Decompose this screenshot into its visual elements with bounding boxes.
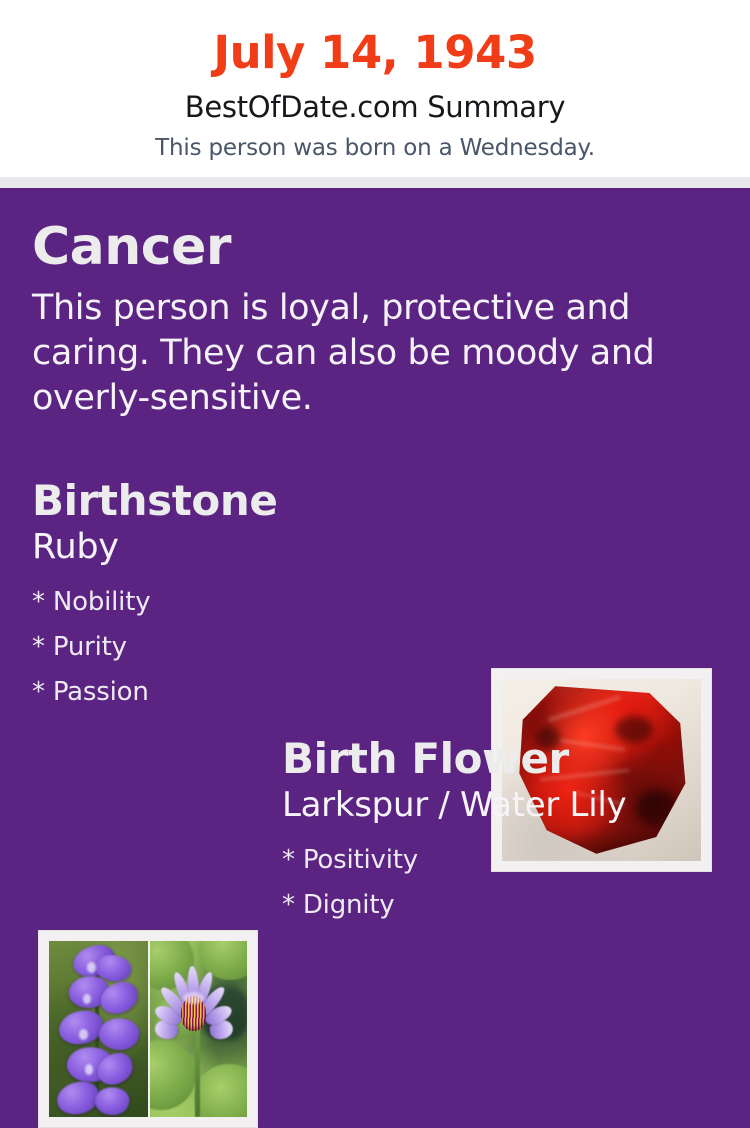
header-separator — [0, 177, 750, 188]
water-lily-photo — [148, 941, 247, 1117]
birthstone-name: Ruby — [32, 530, 119, 565]
list-item: * Dignity — [282, 883, 418, 928]
list-item: * Positivity — [282, 838, 418, 883]
photo-divider — [148, 941, 150, 1117]
page-header: July 14, 1943 BestOfDate.com Summary Thi… — [0, 0, 750, 177]
flower-photo-split — [49, 941, 247, 1117]
larkspur-and-water-lily-photo — [49, 941, 247, 1117]
water-lily-stem — [195, 1025, 200, 1117]
zodiac-description: This person is loyal, protective and car… — [32, 286, 657, 421]
page-title: July 14, 1943 — [0, 0, 750, 75]
birthstone-trait-list: * Nobility * Purity * Passion — [32, 580, 150, 715]
zodiac-sign-heading: Cancer — [32, 221, 231, 273]
birth-flower-trait-list: * Positivity * Dignity — [282, 838, 418, 928]
ruby-facet — [548, 695, 621, 723]
summary-card: July 14, 1943 BestOfDate.com Summary Thi… — [0, 0, 750, 1000]
larkspur-blossom-center — [83, 994, 91, 1005]
ruby-facet — [560, 739, 625, 752]
larkspur-blossom-center — [85, 1064, 93, 1075]
birth-flower-name: Larkspur / Water Lily — [282, 788, 626, 822]
larkspur-photo — [49, 941, 148, 1117]
birth-flower-image-frame — [38, 930, 258, 1128]
larkspur-blossom-center — [87, 962, 96, 973]
larkspur-blossom-center — [79, 1029, 88, 1040]
birth-flower-heading: Birth Flower — [282, 738, 569, 780]
list-item: * Passion — [32, 670, 150, 715]
content-body: Cancer This person is loyal, protective … — [0, 188, 750, 1000]
site-subtitle: BestOfDate.com Summary — [0, 75, 750, 122]
list-item: * Nobility — [32, 580, 150, 625]
list-item: * Purity — [32, 625, 150, 670]
birthstone-heading: Birthstone — [32, 480, 277, 522]
born-day-line: This person was born on a Wednesday. — [0, 122, 750, 160]
ruby-shadow — [615, 716, 653, 743]
